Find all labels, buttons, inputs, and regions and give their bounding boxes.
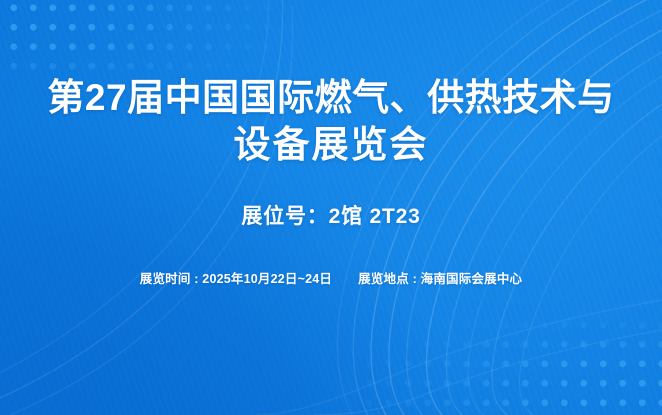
event-meta: 展览时间 : 2025年10月22日~24日 展览地点 : 海南国际会展中心 [140, 268, 522, 287]
event-time: 展览时间 : 2025年10月22日~24日 [140, 268, 332, 287]
title-line-2: 设备展览会 [31, 121, 631, 168]
exhibition-banner: 第27届中国国际燃气、供热技术与 设备展览会 展位号：2馆 2T23 展览时间 … [0, 0, 662, 415]
event-place: 展览地点 : 海南国际会展中心 [358, 268, 522, 287]
page-title: 第27届中国国际燃气、供热技术与 设备展览会 [31, 74, 631, 168]
booth-number: 展位号：2馆 2T23 [241, 200, 420, 230]
banner-content: 第27届中国国际燃气、供热技术与 设备展览会 展位号：2馆 2T23 展览时间 … [0, 0, 662, 415]
title-line-1: 第27届中国国际燃气、供热技术与 [31, 74, 631, 121]
